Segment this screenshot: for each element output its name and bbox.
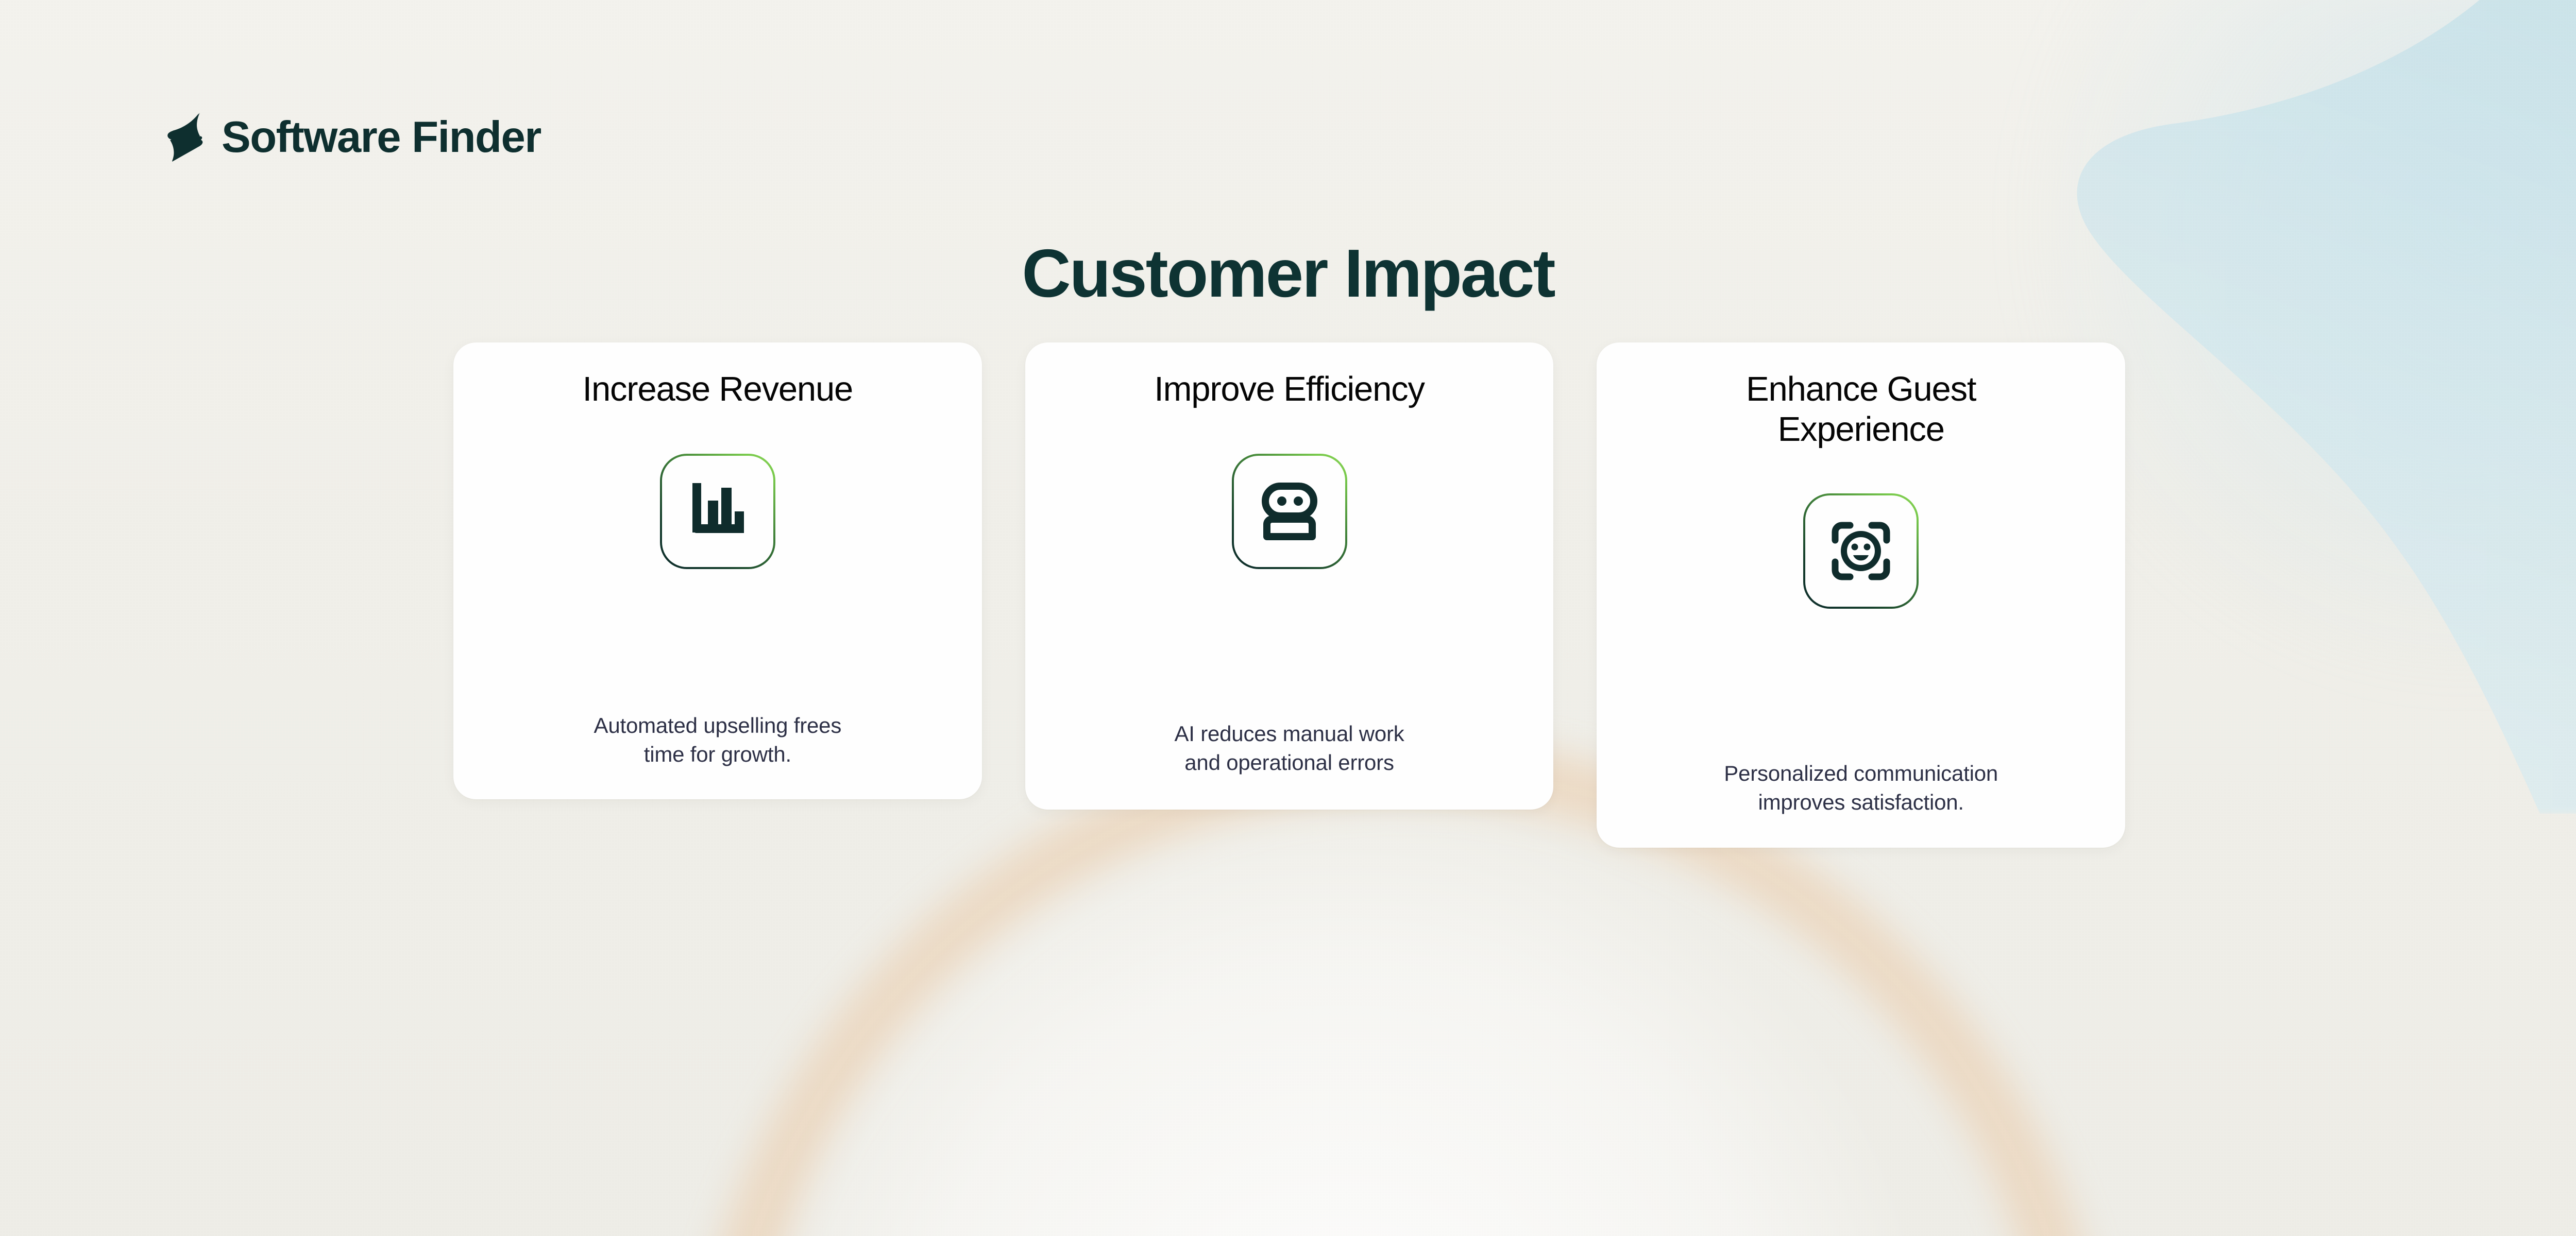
impact-card-enhance-guest-experience[interactable]: Enhance Guest Experience Personalized co… <box>1597 342 2125 848</box>
card-description: AI reduces manual work and operational e… <box>1174 719 1404 777</box>
icon-gradient-frame <box>660 454 775 569</box>
brand-logo: Software Finder <box>155 110 541 164</box>
card-title: Improve Efficiency <box>1154 369 1425 409</box>
impact-card-grid: Increase Revenue Automated upselling fre… <box>453 342 2125 848</box>
card-description: Automated upselling frees time for growt… <box>594 711 842 769</box>
impact-card-improve-efficiency[interactable]: Improve Efficiency AI reduces manual wor… <box>1025 342 1554 810</box>
double-chevron-mark-icon <box>155 110 204 164</box>
face-scan-smiley-icon <box>1805 495 1917 607</box>
card-description: Personalized communication improves sati… <box>1724 759 1998 817</box>
card-title: Enhance Guest Experience <box>1746 369 1976 449</box>
icon-gradient-frame <box>1803 493 1919 609</box>
impact-card-increase-revenue[interactable]: Increase Revenue Automated upselling fre… <box>453 342 982 799</box>
bar-chart-icon <box>662 456 773 567</box>
icon-gradient-frame <box>1232 454 1347 569</box>
robot-icon <box>1234 456 1345 567</box>
card-title: Increase Revenue <box>583 369 853 409</box>
brand-name: Software Finder <box>222 115 541 159</box>
page-title: Customer Impact <box>0 237 2576 311</box>
